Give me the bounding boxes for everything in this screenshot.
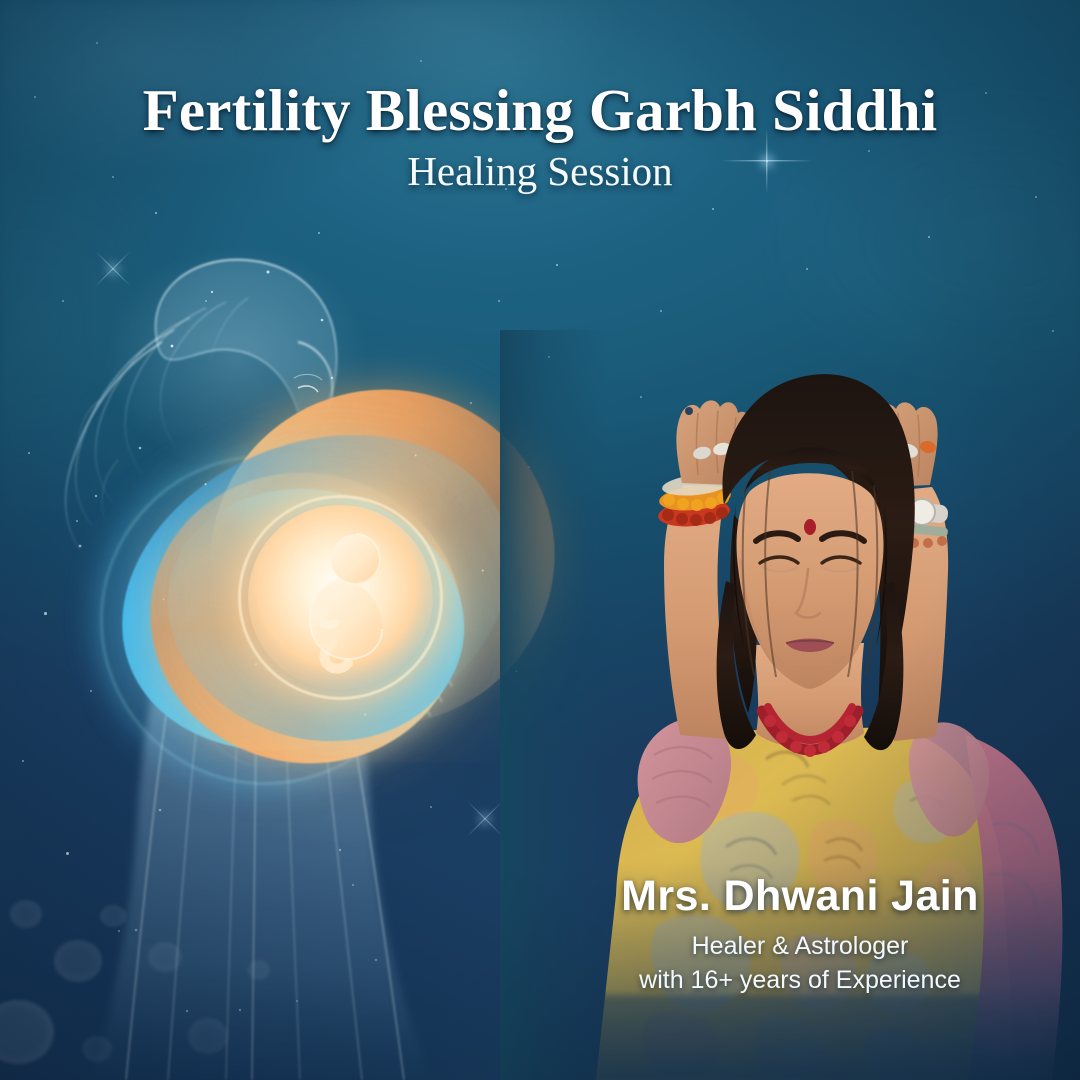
presenter-experience: with 16+ years of Experience xyxy=(560,964,1040,996)
title-block: Fertility Blessing Garbh Siddhi Healing … xyxy=(0,80,1080,194)
presenter-name: Mrs. Dhwani Jain xyxy=(560,875,1040,918)
presenter-credit: Mrs. Dhwani Jain Healer & Astrologer wit… xyxy=(560,875,1040,996)
fetus-silhouette-icon xyxy=(270,523,415,673)
page-title: Fertility Blessing Garbh Siddhi xyxy=(0,80,1080,141)
poster-canvas: Fertility Blessing Garbh Siddhi Healing … xyxy=(0,0,1080,1080)
page-subtitle: Healing Session xyxy=(0,149,1080,194)
bokeh-particle xyxy=(10,900,42,928)
presenter-role: Healer & Astrologer xyxy=(560,930,1040,962)
energy-orb-group xyxy=(110,395,590,785)
bindi xyxy=(804,519,816,535)
